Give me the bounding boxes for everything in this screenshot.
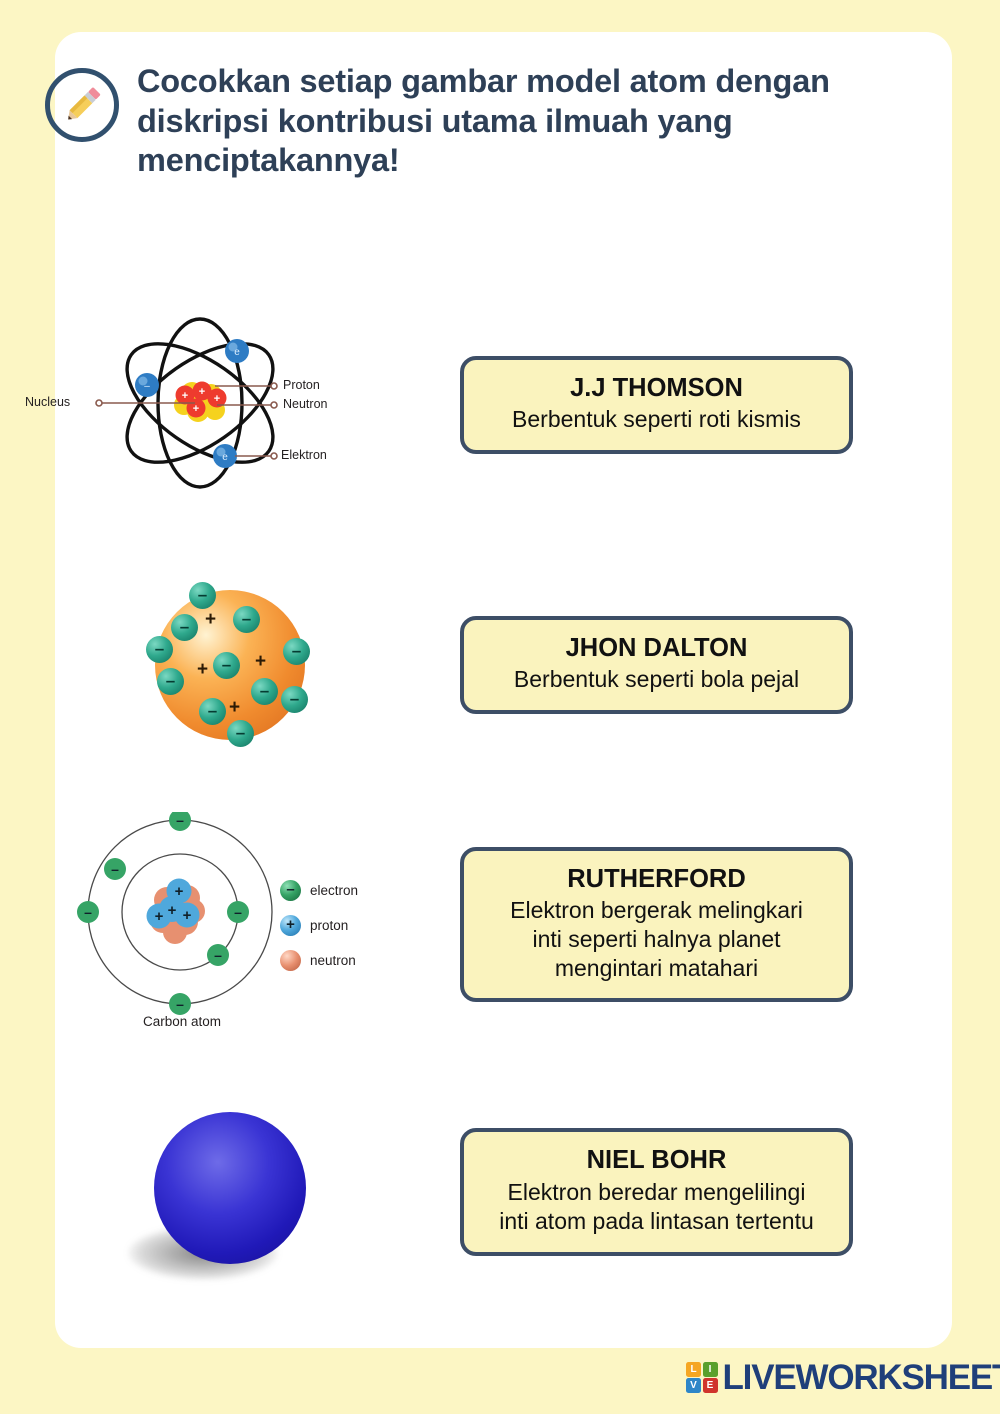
svg-text:–: – — [234, 904, 242, 920]
pencil-glyph — [58, 81, 106, 129]
answer-cell-4: NIEL BOHR Elektron beredar mengelilingi … — [460, 1128, 880, 1255]
answer-box-dalton[interactable]: JHON DALTON Berbentuk seperti bola pejal — [460, 616, 853, 714]
plum-electron: – — [199, 698, 226, 725]
plum-electron: – — [213, 652, 240, 679]
carbon-atom-caption: Carbon atom — [143, 1014, 221, 1029]
figure-cell-2: – – – – – – – – – – – + + + + — [0, 580, 460, 750]
match-row-1: + + + + e – e — [0, 310, 1000, 500]
worksheet-header: Cocokkan setiap gambar model atom dengan… — [45, 62, 875, 181]
positive-charge: + — [197, 660, 208, 679]
dalton-solid-sphere-diagram — [135, 1100, 325, 1285]
answer-name: JHON DALTON — [478, 633, 835, 663]
logo-tile-l: L — [686, 1362, 701, 1377]
svg-text:–: – — [214, 947, 222, 963]
svg-text:+: + — [214, 393, 220, 405]
match-row-4: NIEL BOHR Elektron beredar mengelilingi … — [0, 1092, 1000, 1292]
figure-cell-1: + + + + e – e — [0, 315, 460, 495]
rutherford-orbital-atom-diagram: + + + + e – e — [65, 315, 395, 495]
match-row-2: – – – – – – – – – – – + + + + JHON DALTO… — [0, 570, 1000, 760]
label-proton: Proton — [283, 378, 320, 392]
carbon-legend: – electron + proton neutron — [280, 880, 358, 985]
svg-text:–: – — [84, 904, 92, 920]
match-row-3: + + + + — [0, 812, 1000, 1037]
legend-item-neutron: neutron — [280, 950, 358, 971]
nucleus-cluster: + + + + — [174, 382, 227, 423]
plum-electron: – — [189, 582, 216, 609]
legend-label: neutron — [310, 953, 356, 968]
answer-box-rutherford[interactable]: RUTHERFORD Elektron bergerak melingkari … — [460, 847, 853, 1003]
answer-description: Berbentuk seperti bola pejal — [478, 665, 835, 694]
plum-electron: – — [171, 614, 198, 641]
svg-text:+: + — [155, 908, 164, 925]
svg-text:–: – — [111, 861, 119, 877]
proton-icon: + — [280, 915, 301, 936]
logo-wordmark: LIVEWORKSHEETS — [723, 1360, 1000, 1395]
pencil-icon — [45, 68, 119, 142]
plum-electron: – — [227, 720, 254, 747]
plum-electron: – — [157, 668, 184, 695]
answer-box-thomson[interactable]: J.J THOMSON Berbentuk seperti roti kismi… — [460, 356, 853, 454]
figure-cell-4 — [0, 1100, 460, 1285]
plum-electron: – — [233, 606, 260, 633]
plum-electron: – — [251, 678, 278, 705]
figure-cell-3: + + + + — [0, 812, 460, 1037]
logo-tiles: L I V E — [686, 1362, 718, 1394]
plum-electron: – — [281, 686, 308, 713]
positive-charge: + — [255, 652, 266, 671]
label-neutron: Neutron — [283, 397, 327, 411]
svg-text:+: + — [175, 883, 184, 900]
plum-electron: – — [283, 638, 310, 665]
svg-text:+: + — [199, 386, 205, 398]
svg-text:+: + — [182, 390, 188, 402]
positive-charge: + — [205, 610, 216, 629]
neutron-icon — [280, 950, 301, 971]
page-title: Cocokkan setiap gambar model atom dengan… — [137, 62, 875, 181]
answer-cell-2: JHON DALTON Berbentuk seperti bola pejal — [460, 616, 880, 714]
electron-glyph-2: – — [144, 381, 150, 392]
positive-charge: + — [229, 698, 240, 717]
solid-blue-sphere — [154, 1112, 306, 1264]
electron-icon: – — [280, 880, 301, 901]
answer-description: Berbentuk seperti roti kismis — [478, 405, 835, 434]
legend-label: proton — [310, 918, 348, 933]
answer-box-bohr[interactable]: NIEL BOHR Elektron beredar mengelilingi … — [460, 1128, 853, 1255]
electron-glyph-3: e — [222, 452, 228, 463]
answer-name: J.J THOMSON — [478, 373, 835, 403]
liveworksheets-logo[interactable]: L I V E LIVEWORKSHEETS — [686, 1360, 1000, 1395]
legend-item-proton: + proton — [280, 915, 358, 936]
orbital-atom-graphic: + + + + e – e — [65, 315, 395, 495]
plum-pudding-sphere: – – – – – – – – – – – + + + + — [155, 590, 305, 740]
carbon-nucleus: + + + + — [147, 879, 206, 945]
svg-text:+: + — [168, 902, 177, 919]
label-nucleus: Nucleus — [25, 395, 70, 409]
answer-name: NIEL BOHR — [478, 1145, 835, 1175]
logo-tile-e: E — [703, 1378, 718, 1393]
svg-text:–: – — [176, 812, 184, 828]
answer-description-line: mengintari matahari — [478, 954, 835, 983]
legend-label: electron — [310, 883, 358, 898]
answer-name: RUTHERFORD — [478, 864, 835, 894]
legend-item-electron: – electron — [280, 880, 358, 901]
svg-text:+: + — [183, 907, 192, 924]
answer-cell-1: J.J THOMSON Berbentuk seperti roti kismi… — [460, 356, 880, 454]
svg-text:–: – — [176, 996, 184, 1012]
answer-description-line: inti atom pada lintasan tertentu — [478, 1207, 835, 1236]
logo-tile-i: I — [703, 1362, 718, 1377]
bohr-carbon-atom-diagram: + + + + — [75, 812, 385, 1037]
label-elektron: Elektron — [281, 448, 327, 462]
answer-description-line: Elektron bergerak melingkari — [478, 896, 835, 925]
answer-description-line: Elektron beredar mengelilingi — [478, 1178, 835, 1207]
answer-description-line: inti seperti halnya planet — [478, 925, 835, 954]
electron-glyph-1: e — [234, 347, 240, 358]
answer-cell-3: RUTHERFORD Elektron bergerak melingkari … — [460, 847, 880, 1003]
plum-electron: – — [146, 636, 173, 663]
thomson-plum-pudding-diagram: – – – – – – – – – – – + + + + — [145, 580, 315, 750]
svg-text:+: + — [193, 403, 199, 415]
logo-tile-v: V — [686, 1378, 701, 1393]
